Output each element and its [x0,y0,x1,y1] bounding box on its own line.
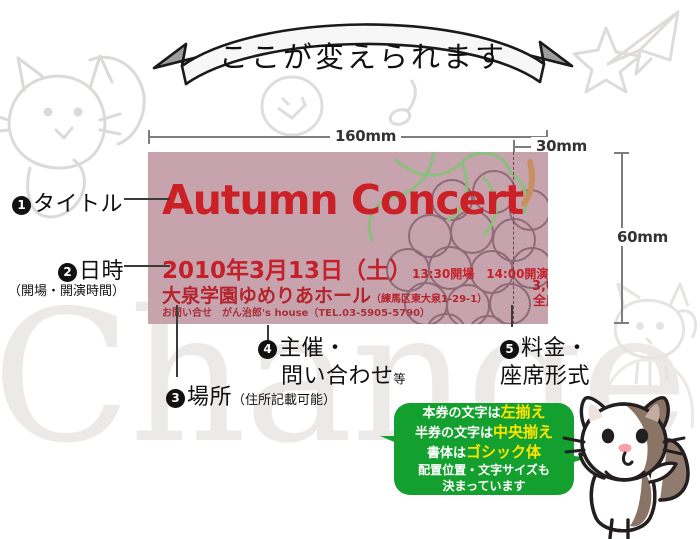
callout-4-number: 4 [258,340,277,359]
banner-text-wrap: ここが変えられます [148,4,578,86]
callout-5-line2: 座席形式 [500,358,590,390]
banner-text: ここが変えられます [219,34,507,76]
callout-4-label-line2: 問い合わせ [281,364,394,389]
callout-5-number: 5 [500,340,519,359]
callout-3-number: 3 [166,389,185,408]
callout-1-title[interactable]: 1タイトル [12,186,123,218]
paper-plane-doodle [600,6,696,80]
callout-1-number: 1 [12,196,31,215]
ticket-price: 3,000円 [520,280,548,295]
note-line-1-pre: 本券の文字は [422,406,500,421]
ticket-stub-price-block[interactable]: 3,000円 全席自由 [520,280,548,310]
leader-line-3 [176,305,178,377]
callout-3-sublabel: （住所記載可能） [232,393,336,408]
dim-60mm-label: 60mm [612,228,673,246]
leader-line-2 [124,265,170,267]
ticket-date-row[interactable]: 2010年3月13日（土）13:30開場 14:00開演 [162,251,548,285]
dim-60mm-tick-top [614,152,629,154]
note-bubble: 本券の文字は左揃え 半券の文字は中央揃え 書体はゴシック体 配置位置・文字サイズ… [394,403,574,495]
callout-3-label: 場所 [187,385,232,410]
dim-60mm-tick-bottom [614,322,629,324]
callout-4-sublabel: 等 [394,372,406,386]
note-line-1-highlight: 左揃え [501,403,546,421]
callout-2-sublabel: （開場・開演時間） [8,284,125,299]
leader-line-5 [511,305,513,327]
callout-5-label-line2: 座席形式 [500,364,590,389]
banner-ribbon: ここが変えられます [148,4,578,86]
star-doodle [572,22,642,96]
dim-160mm-label: 160mm [330,127,401,145]
note-line-1: 本券の文字は左揃え [422,403,545,423]
ticket-seating: 全席自由 [520,295,548,310]
note-line-5: 決まっています [443,479,526,495]
note-line-4: 配置位置・文字サイズも [418,463,550,479]
ticket-preview[interactable]: Autumn Concert 2010年3月13日（土）13:30開場 14:0… [148,152,548,324]
cat-mascot [556,396,700,539]
poster-canvas: Change [0,0,700,539]
note-line-3-highlight: ゴシック体 [466,443,541,461]
ticket-title[interactable]: Autumn Concert [162,176,523,224]
callout-1-label: タイトル [33,192,123,217]
note-line-3: 書体はゴシック体 [427,443,541,463]
note-line-2-highlight: 中央揃え [493,423,553,441]
ticket-contact[interactable]: お問い合せ がん治郎's house（TEL.03-5905-5790） [162,304,430,319]
note-line-2-pre: 半券の文字は [415,426,493,441]
callout-2-sub: （開場・開演時間） [8,280,125,299]
dim-160mm-tick-left [148,130,150,144]
note-line-2: 半券の文字は中央揃え [415,423,553,443]
note-line-3-pre: 書体は [427,446,466,461]
leader-line-1 [124,198,170,200]
ticket-date-times: 13:30開場 14:00開演 [412,267,548,281]
callout-4-line2: 問い合わせ等 [281,358,406,390]
